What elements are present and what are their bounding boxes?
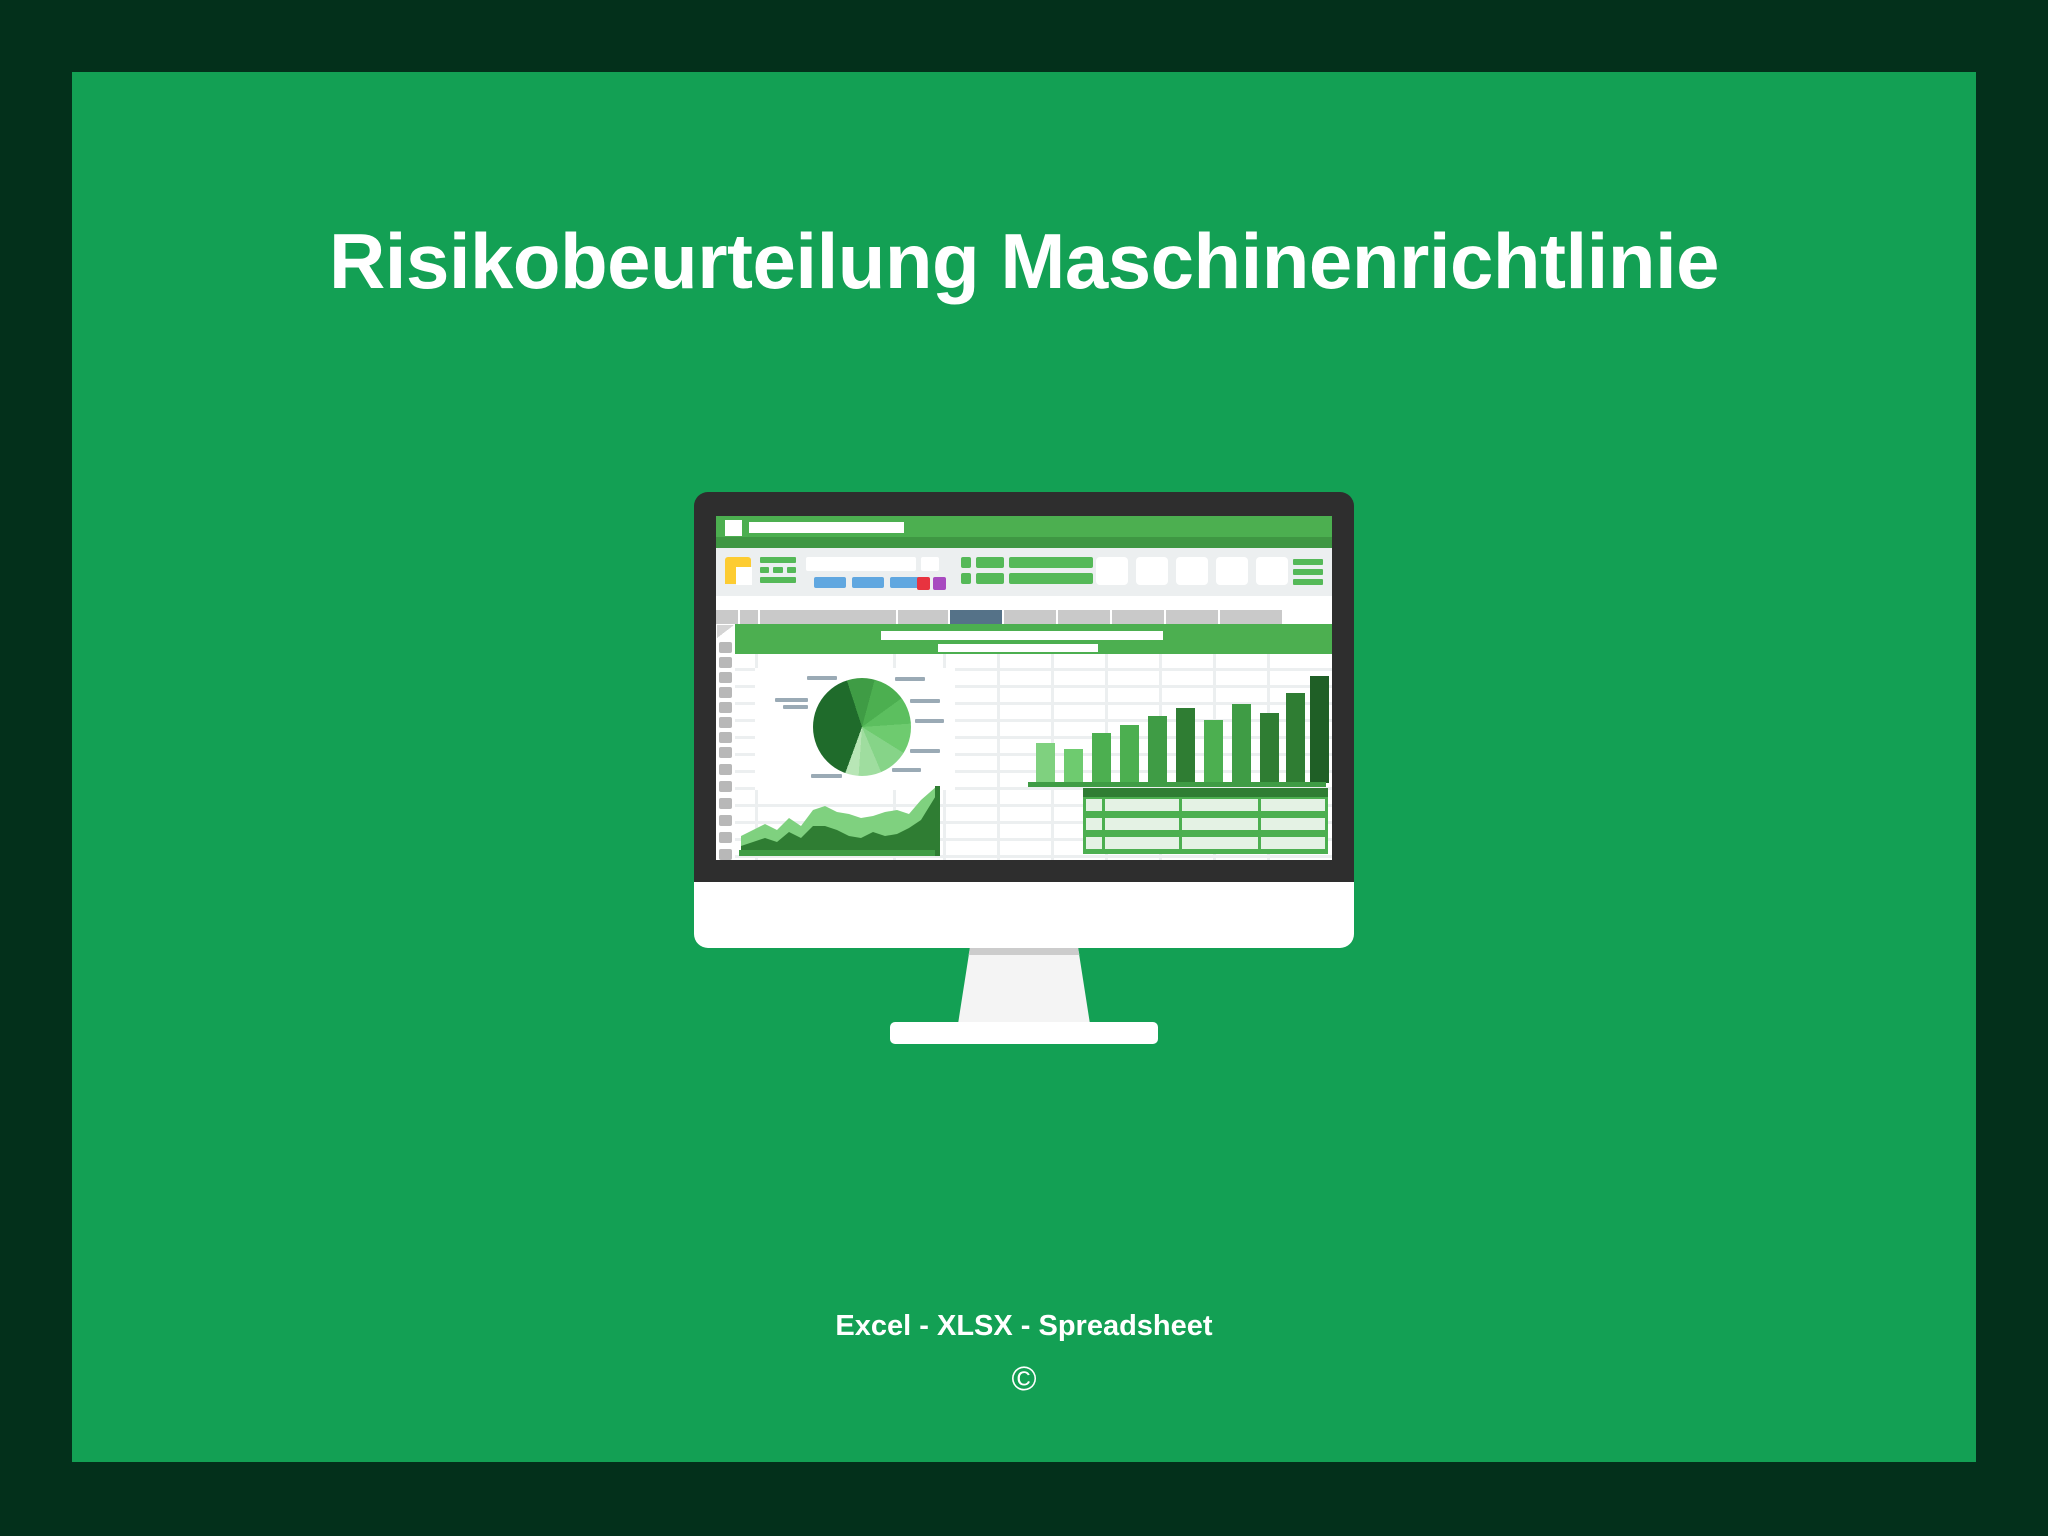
banner-line-2 xyxy=(938,644,1098,652)
row-header-cell[interactable] xyxy=(719,687,732,698)
area-chart-graphic xyxy=(737,784,957,858)
formula-bar[interactable] xyxy=(716,596,1332,610)
copyright-icon: © xyxy=(0,1362,2048,1396)
row-header-column[interactable] xyxy=(716,624,735,860)
bar-8 xyxy=(1232,704,1251,783)
pie-label-line xyxy=(783,705,808,709)
pie-label-line xyxy=(892,768,921,772)
footer-format-label: Excel - XLSX - Spreadsheet xyxy=(0,1310,2048,1343)
row-header-cell[interactable] xyxy=(719,798,732,809)
row-header-cell[interactable] xyxy=(719,849,732,860)
formula-input[interactable] xyxy=(821,598,1323,610)
bar-7 xyxy=(1204,720,1223,783)
pie-label-line xyxy=(910,749,940,753)
row-header-cell[interactable] xyxy=(719,642,732,653)
monitor-screen xyxy=(716,516,1332,860)
purple-swatch-icon[interactable] xyxy=(933,577,946,590)
column-header-f[interactable] xyxy=(1058,610,1110,624)
row-header-cell[interactable] xyxy=(719,781,732,792)
row-header-cell[interactable] xyxy=(719,702,732,713)
spreadsheet-data-table xyxy=(1083,788,1328,854)
red-swatch-icon[interactable] xyxy=(917,577,930,590)
bar-3 xyxy=(1092,733,1111,783)
cell-button-4[interactable] xyxy=(1216,557,1248,585)
bar-9 xyxy=(1260,713,1279,783)
row-header-cell[interactable] xyxy=(719,815,732,826)
bar-11 xyxy=(1310,676,1329,783)
page-title: Risikobeurteilung Maschinenrichtlinie xyxy=(0,222,2048,300)
pie-label-line xyxy=(775,698,808,702)
ribbon-small-input[interactable] xyxy=(921,557,939,571)
folder-icon-page xyxy=(736,567,752,585)
monitor-stand-neck xyxy=(958,948,1090,1024)
title-bar-shadow xyxy=(716,537,1332,548)
ribbon-toolbar[interactable] xyxy=(716,548,1332,596)
name-box[interactable] xyxy=(725,598,815,610)
poster-canvas: Risikobeurteilung Maschinenrichtlinie xyxy=(0,0,2048,1536)
column-header-e[interactable] xyxy=(1004,610,1056,624)
ribbon-text-input[interactable] xyxy=(806,557,916,571)
row-header-cell[interactable] xyxy=(719,764,732,775)
bar-5 xyxy=(1148,716,1167,783)
column-header-d-selected[interactable] xyxy=(950,610,1002,624)
cell-button-5[interactable] xyxy=(1256,557,1288,585)
monitor-chin xyxy=(694,882,1354,948)
table-row xyxy=(1083,818,1328,830)
spreadsheet-bar-chart xyxy=(1028,654,1328,789)
pie-label-line xyxy=(811,774,842,778)
cell-button-1[interactable] xyxy=(1096,557,1128,585)
bar-10 xyxy=(1286,693,1305,783)
column-header-g[interactable] xyxy=(1112,610,1164,624)
bar-chart-baseline xyxy=(1028,782,1326,787)
column-header-row[interactable] xyxy=(716,610,1332,624)
bar-2 xyxy=(1064,749,1083,783)
row-header-cell[interactable] xyxy=(719,657,732,668)
monitor-stand-neck-top xyxy=(958,948,1090,955)
pie-chart-graphic xyxy=(813,678,911,776)
spreadsheet-pie-chart xyxy=(755,668,955,790)
bar-1 xyxy=(1036,743,1055,783)
blue-button-1[interactable] xyxy=(814,577,846,588)
row-header-cell[interactable] xyxy=(719,732,732,743)
banner-line-1 xyxy=(881,631,1163,640)
monitor-stand-base xyxy=(890,1022,1158,1044)
app-title-bar xyxy=(716,516,1332,548)
column-header-b[interactable] xyxy=(760,610,896,624)
column-header-a[interactable] xyxy=(740,610,758,624)
pie-label-line xyxy=(910,699,940,703)
list-lines-icon[interactable] xyxy=(760,557,796,587)
sheet-title-banner xyxy=(735,624,1332,654)
app-title-placeholder-bar xyxy=(749,522,904,533)
blue-button-2[interactable] xyxy=(852,577,884,588)
column-header-corner[interactable] xyxy=(716,610,738,624)
select-all-corner[interactable] xyxy=(716,624,735,639)
ribbon-grid-blocks[interactable] xyxy=(961,557,1093,589)
data-table-header xyxy=(1083,788,1328,797)
column-header-h[interactable] xyxy=(1166,610,1218,624)
bar-4 xyxy=(1120,725,1139,783)
column-header-i[interactable] xyxy=(1220,610,1282,624)
row-header-cell[interactable] xyxy=(719,672,732,683)
bar-6 xyxy=(1176,708,1195,783)
spreadsheet-grid[interactable] xyxy=(716,624,1332,860)
pie-label-line xyxy=(807,676,837,680)
cell-button-3[interactable] xyxy=(1176,557,1208,585)
row-header-cell[interactable] xyxy=(719,832,732,843)
app-icon xyxy=(725,520,742,536)
ribbon-blue-buttons[interactable] xyxy=(814,577,922,588)
ribbon-cell-buttons[interactable] xyxy=(1096,557,1288,585)
table-row xyxy=(1083,799,1328,811)
spreadsheet-area-chart xyxy=(737,784,957,858)
pie-label-line xyxy=(895,677,925,681)
hamburger-icon[interactable] xyxy=(1293,559,1323,589)
cell-button-2[interactable] xyxy=(1136,557,1168,585)
pie-label-line xyxy=(915,719,944,723)
desktop-monitor-illustration xyxy=(694,492,1354,1052)
grid-lines xyxy=(735,654,1332,860)
row-header-cell[interactable] xyxy=(719,717,732,728)
row-header-cell[interactable] xyxy=(719,747,732,758)
column-header-c[interactable] xyxy=(898,610,948,624)
table-row xyxy=(1083,837,1328,849)
